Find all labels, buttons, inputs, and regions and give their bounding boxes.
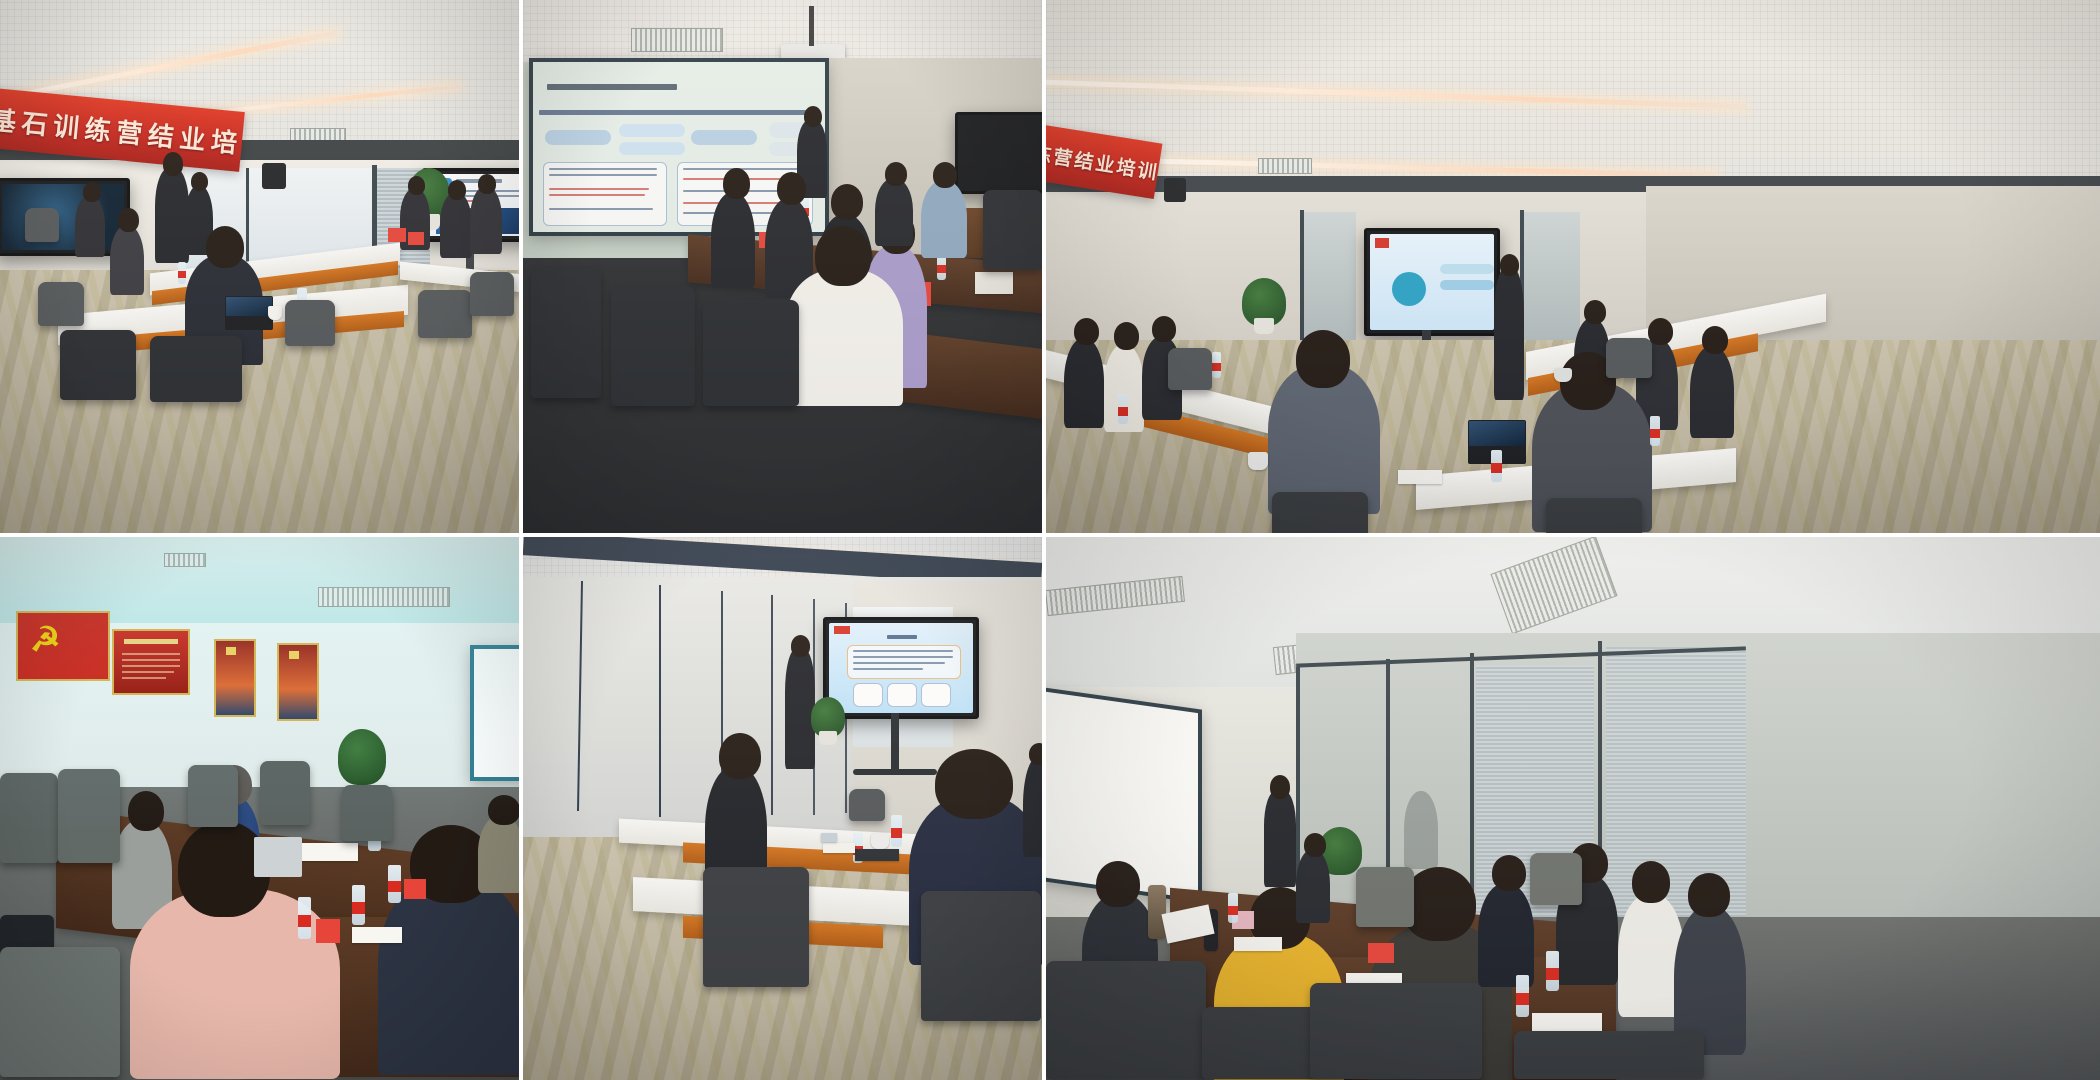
ceiling-ac-vent (164, 553, 206, 567)
water-bottle (1516, 975, 1529, 1017)
wall-speaker (262, 163, 286, 189)
office-chair[interactable] (0, 947, 120, 1077)
executive-chair[interactable] (611, 286, 695, 406)
office-chair[interactable] (342, 785, 392, 841)
attendee (478, 815, 519, 893)
attendee-head (1688, 873, 1730, 917)
attendee (75, 195, 105, 257)
slide-body-line (549, 188, 649, 190)
wall-speaker (1164, 178, 1186, 202)
slide-body-line (853, 656, 953, 658)
slide-body-line (549, 174, 657, 176)
slide-body-line (549, 168, 657, 170)
slide-card-3 (921, 683, 951, 707)
paper-cup (268, 306, 282, 320)
attendee (711, 192, 755, 288)
plant-pot (1254, 318, 1274, 334)
reflected-silhouette (1404, 791, 1438, 869)
presenter (785, 649, 815, 769)
display-stand (891, 713, 899, 773)
projector-mount (809, 6, 814, 46)
training-room-scene-3: 练营结业培训 (1046, 0, 2100, 533)
potted-plant (338, 729, 386, 785)
office-chair[interactable] (703, 867, 809, 987)
name-tent (388, 228, 406, 242)
attendee-head (1632, 861, 1670, 903)
attendee-head (118, 208, 139, 232)
ceiling-light-panel (318, 587, 450, 607)
meeting-room-scene-6 (1046, 537, 2100, 1080)
toc-item-2 (1440, 280, 1494, 290)
attendee (1023, 757, 1042, 857)
papers (823, 843, 855, 853)
plant-pot (819, 731, 837, 745)
slide-subtitle-line (539, 110, 819, 115)
glass-door-right (1524, 212, 1580, 348)
training-room-scene-1: 期基石训练营结业培训 (0, 0, 519, 533)
office-chair[interactable] (25, 208, 59, 242)
papers (1532, 1013, 1602, 1031)
name-tent (408, 232, 424, 245)
attendee-head (128, 791, 164, 831)
office-chair[interactable] (188, 765, 238, 827)
laptop-screen (226, 297, 272, 316)
presenter-head (1500, 254, 1519, 276)
panel-bottom-left[interactable]: ☭ (0, 537, 519, 1080)
presenter (1264, 791, 1296, 887)
display-stand-base (853, 769, 937, 775)
water-bottle (1491, 450, 1502, 482)
presenter-head (163, 152, 183, 176)
office-chair[interactable] (1514, 1031, 1704, 1079)
attendee (440, 192, 472, 258)
water-bottle (1212, 352, 1221, 378)
name-tent (316, 919, 340, 943)
slide-body-line (853, 662, 945, 664)
office-chair[interactable] (1046, 961, 1206, 1079)
slide-card-1 (853, 683, 883, 707)
attendee (1064, 338, 1104, 428)
propaganda-poster (214, 639, 256, 717)
water-bottle (1650, 416, 1660, 446)
water-bottle (388, 865, 401, 903)
office-chair[interactable] (921, 891, 1041, 1021)
mobile-phone[interactable] (821, 833, 837, 842)
mousepad (855, 849, 899, 861)
attendee-head (191, 172, 208, 191)
attendee-head (1702, 326, 1728, 354)
panel-bottom-right[interactable]: Meeting room with ceiling-mounted projec… (1046, 537, 2100, 1080)
attendee-head (1096, 861, 1140, 907)
office-chair[interactable] (1272, 492, 1368, 533)
water-bottle (891, 815, 902, 847)
office-chair[interactable] (1606, 338, 1652, 378)
office-chair[interactable] (60, 330, 136, 400)
photo-collage: 期基石训练营结业培训 (0, 0, 2100, 1080)
office-chair[interactable] (58, 769, 120, 863)
office-chair[interactable] (1168, 348, 1212, 390)
panel-top-center[interactable]: Conference room with ceiling projector, … (523, 0, 1042, 533)
executive-chair[interactable] (531, 268, 601, 398)
attendee (110, 225, 144, 295)
attendee-head (206, 226, 244, 268)
party-flag-plaque: ☭ (16, 611, 110, 681)
slide-body-line (549, 194, 645, 196)
office-chair[interactable] (38, 282, 84, 326)
toc-item-1 (1440, 264, 1494, 274)
office-chair[interactable] (1356, 867, 1414, 927)
attendee-head (719, 733, 761, 779)
office-chair[interactable] (1530, 853, 1582, 905)
water-bottle (1118, 394, 1128, 424)
attendee-head (408, 176, 425, 195)
laptop-screen (1469, 421, 1525, 446)
attendee-head (885, 162, 907, 186)
name-tent (404, 879, 426, 899)
slide-title-line (887, 635, 917, 639)
office-chair[interactable] (470, 272, 514, 316)
attendee-head (935, 749, 1013, 819)
laptop[interactable] (254, 837, 302, 877)
slide-node-a (545, 130, 611, 145)
slide-node-d (691, 130, 757, 145)
attendee-head (831, 184, 863, 220)
executive-chair[interactable] (983, 190, 1042, 270)
slide-card-2 (887, 683, 917, 707)
slide-title-line (547, 84, 677, 90)
projection-screen (470, 645, 519, 781)
attendee (470, 186, 502, 254)
mobile-touch-display[interactable] (1364, 228, 1500, 336)
mobile-touch-display[interactable] (823, 617, 979, 719)
hammer-sickle-icon: ☭ (30, 623, 60, 657)
office-chair[interactable] (1546, 498, 1642, 533)
attendee-head (1584, 300, 1606, 324)
slide-logo (1375, 238, 1389, 248)
propaganda-poster (277, 643, 319, 721)
mug (871, 833, 889, 849)
executive-chair[interactable] (703, 300, 799, 406)
office-chair[interactable] (0, 773, 58, 863)
attendee (1478, 883, 1534, 987)
attendee-dark-navy (378, 875, 519, 1075)
presenter-head (791, 635, 810, 657)
attendee (875, 178, 913, 246)
slide-body-line (853, 650, 953, 652)
wall-tv-screen (2, 184, 124, 250)
water-bottle (298, 897, 311, 939)
glass-door (1304, 212, 1356, 348)
attendee-head (1296, 330, 1350, 388)
touch-display-screen (1370, 234, 1494, 330)
attendee-head (478, 174, 496, 194)
office-chair[interactable] (260, 761, 310, 825)
attendee-head (1304, 833, 1326, 857)
presenter (1494, 268, 1524, 400)
slide-body-line (853, 668, 923, 670)
attendee-head (723, 168, 750, 199)
attendee-head (1152, 316, 1176, 342)
partition-seam (771, 595, 773, 815)
attendee-head (1492, 855, 1526, 891)
water-bottle (1228, 893, 1238, 923)
attendee-head (777, 172, 806, 205)
office-chair[interactable] (285, 300, 335, 346)
slide-node-b (619, 124, 685, 137)
partition-seam (659, 585, 661, 817)
oath-board (112, 629, 190, 695)
slide-logo (834, 626, 850, 634)
water-bottle (1546, 951, 1559, 991)
panel-bottom-center[interactable]: Training room with movable partition wal… (523, 537, 1042, 1080)
water-bottle (352, 885, 365, 925)
office-chair[interactable] (150, 336, 242, 402)
thermos (1148, 885, 1166, 939)
mug (1248, 452, 1268, 470)
attendee (921, 180, 967, 258)
panel-top-left[interactable]: 期基石训练营结业培训 (0, 0, 519, 533)
presenter (155, 168, 189, 263)
presenter-head (804, 106, 822, 127)
water-bottle (178, 262, 186, 284)
attendee-head (448, 180, 466, 200)
attendee (1296, 849, 1330, 923)
attendee-head (1114, 322, 1139, 350)
name-tent (1368, 943, 1394, 963)
slide-node-c (619, 142, 685, 155)
papers (1234, 937, 1282, 951)
attendee-head (933, 162, 957, 188)
laptop[interactable] (225, 296, 273, 330)
attendee (1690, 346, 1734, 438)
attendee-head (1074, 318, 1099, 345)
ceiling-ac-vent (1258, 158, 1312, 174)
office-chair[interactable] (418, 290, 472, 338)
training-room-scene-5 (523, 537, 1042, 1080)
panel-top-right[interactable]: 练营结业培训 (1046, 0, 2100, 533)
papers (296, 843, 358, 861)
conference-room-scene-2 (523, 0, 1042, 533)
attendee-head (815, 226, 871, 286)
presenter-head (1270, 775, 1290, 799)
mug-right (1554, 368, 1572, 382)
meeting-room-scene-4: ☭ (0, 537, 519, 1080)
attendee-head (1648, 318, 1673, 345)
office-chair[interactable] (849, 789, 885, 821)
wall-tv[interactable] (955, 112, 1042, 194)
office-chair[interactable] (1310, 983, 1482, 1079)
slide-body-line (549, 208, 653, 210)
ceiling-ac-vent (631, 28, 723, 52)
attendee-head (488, 795, 519, 825)
papers (352, 927, 402, 943)
toc-circle (1392, 272, 1426, 306)
papers (1398, 470, 1442, 484)
attendee-white-shirt (785, 270, 903, 406)
touch-display-screen (829, 623, 973, 713)
attendee-head (83, 182, 101, 202)
tissue-box (975, 272, 1013, 294)
attendee-head (1029, 743, 1042, 765)
